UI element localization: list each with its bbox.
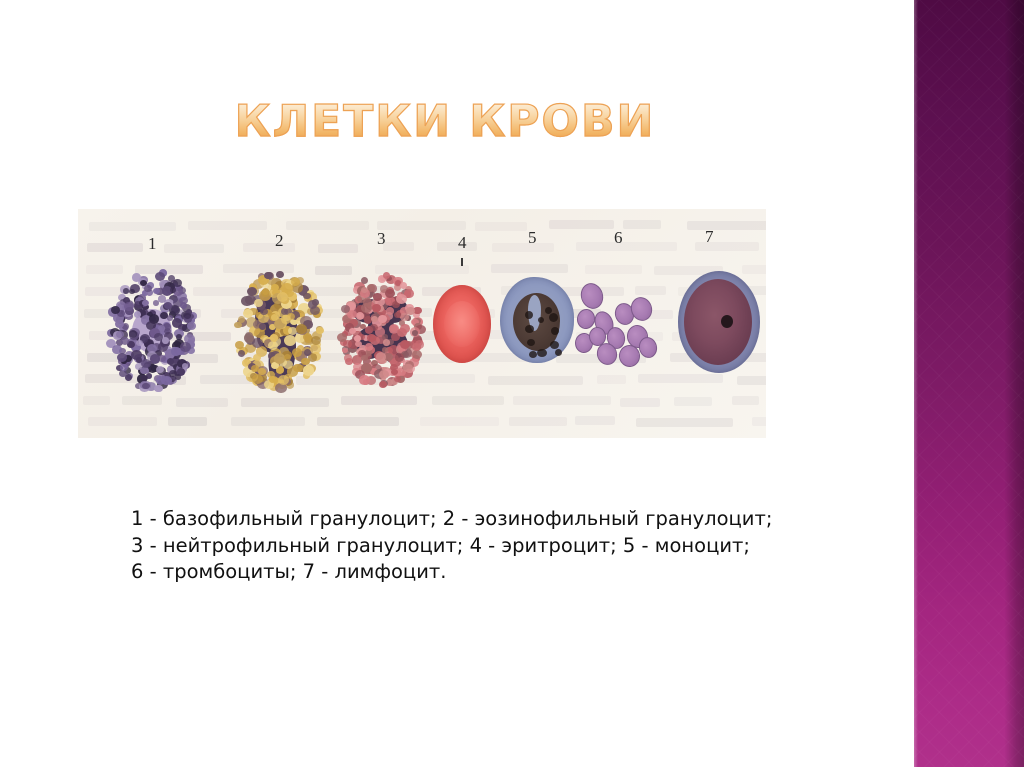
cell-granule	[312, 299, 320, 306]
ghost-text-line	[687, 221, 766, 230]
cell-granule	[268, 341, 278, 350]
cell-granule	[162, 337, 169, 343]
cell-granule	[379, 381, 387, 388]
ghost-text-line	[475, 222, 527, 231]
ghost-text-line	[88, 417, 157, 426]
monocyte-chromatin-dot	[525, 325, 534, 333]
cell-granule	[182, 363, 189, 369]
cell-granule	[254, 299, 263, 307]
ghost-text-line	[638, 374, 724, 383]
cell-granule	[361, 277, 368, 284]
cell-number-label-1: 1	[148, 234, 157, 254]
ghost-text-line	[620, 398, 660, 407]
ghost-text-line	[317, 417, 399, 426]
ghost-text-line	[383, 242, 415, 251]
monocyte-chromatin-dot	[537, 349, 547, 357]
cell-granule	[378, 315, 387, 323]
cell-granule	[412, 350, 422, 359]
cell-granule	[170, 287, 176, 293]
ghost-text-line	[341, 396, 416, 405]
cell-granule	[156, 366, 164, 373]
cell-granule	[154, 385, 163, 393]
cell-granule	[412, 330, 418, 336]
ghost-text-line	[575, 416, 614, 425]
ghost-text-line	[488, 376, 583, 385]
ghost-text-line	[89, 222, 176, 231]
cell-granule	[371, 316, 378, 323]
ghost-text-line	[674, 397, 712, 406]
ghost-text-line	[243, 243, 296, 252]
cell-granule	[367, 334, 376, 342]
cell-granule	[363, 298, 372, 307]
ghost-text-line	[437, 242, 477, 251]
ghost-text-line	[286, 221, 369, 230]
monocyte-chromatin-dot	[529, 351, 537, 358]
monocyte-chromatin-dot	[525, 311, 533, 319]
cell-granule	[310, 344, 320, 354]
cell-granule	[349, 328, 356, 334]
cell-granule	[304, 349, 311, 356]
lymphocyte-nucleus	[684, 279, 752, 365]
cell-granule	[173, 279, 182, 287]
ghost-text-line	[752, 417, 766, 426]
ghost-text-line	[168, 417, 207, 426]
page-title: Клетки крови	[0, 96, 890, 147]
cell-number-label-3: 3	[377, 229, 386, 249]
ghost-text-line	[549, 220, 614, 229]
cell-granule	[117, 353, 127, 362]
cell-granule	[245, 332, 253, 339]
monocyte-chromatin-dot	[545, 307, 552, 314]
cell-granule	[284, 335, 296, 346]
cell-granule	[164, 302, 171, 309]
ghost-text-line	[122, 396, 162, 405]
cell-granule	[274, 353, 285, 363]
cell-granule	[400, 324, 409, 333]
ghost-text-line	[432, 396, 503, 405]
cell-granule	[370, 324, 378, 331]
ghost-text-line	[176, 398, 228, 407]
cell-granule	[386, 307, 394, 315]
cell-granule	[284, 354, 291, 361]
cell-granule	[120, 364, 128, 372]
cell-granule	[400, 282, 408, 289]
cell-granule	[175, 374, 182, 380]
cell-basophil	[106, 267, 198, 395]
cell-granule	[356, 312, 364, 319]
cell-number-label-2: 2	[275, 231, 284, 251]
cell-granule	[171, 347, 180, 356]
cell-monocyte	[500, 277, 574, 363]
pointer-tick-icon	[461, 258, 463, 266]
cell-granule	[316, 327, 324, 334]
ghost-text-line	[513, 396, 611, 405]
ghost-text-line	[636, 418, 733, 427]
ghost-text-line	[492, 243, 555, 252]
ghost-text-line	[509, 417, 567, 426]
cell-granule	[303, 293, 310, 300]
ghost-text-line	[597, 375, 626, 384]
ghost-text-line	[188, 221, 268, 230]
cell-granule	[121, 337, 129, 344]
cell-granule	[342, 348, 348, 354]
cell-number-label-4: 4	[458, 233, 467, 253]
cell-granule	[258, 368, 265, 375]
cell-granule	[129, 330, 137, 337]
cell-granule	[361, 355, 367, 361]
ghost-text-line	[737, 376, 766, 385]
erythrocyte-pale-center	[444, 301, 480, 347]
monocyte-chromatin-dot	[551, 327, 559, 335]
cell-granule	[238, 350, 245, 357]
ghost-text-line	[732, 396, 760, 405]
ghost-text-line	[83, 396, 109, 405]
figure-caption: 1 - базофильный гранулоцит; 2 - эозинофи…	[131, 506, 891, 586]
ghost-text-line	[491, 264, 568, 273]
cell-granule	[150, 354, 161, 364]
cell-granule	[376, 352, 386, 361]
ghost-text-line	[241, 398, 329, 407]
cell-granule	[262, 288, 269, 295]
band-highlight-edge	[914, 0, 918, 767]
cell-granule	[278, 375, 289, 385]
ghost-text-line	[164, 244, 224, 253]
cell-granule	[276, 271, 284, 278]
platelet	[578, 280, 607, 312]
decorative-purple-band	[914, 0, 1024, 767]
cell-number-label-7: 7	[705, 227, 714, 247]
lymphocyte-nucleolus	[721, 315, 733, 328]
cell-granule	[379, 370, 389, 379]
band-texture	[914, 0, 1024, 767]
cell-granule	[129, 289, 135, 295]
cell-granule	[359, 375, 370, 385]
cell-granule	[179, 297, 187, 305]
cell-granule	[259, 323, 266, 330]
ghost-text-line	[231, 417, 306, 426]
ghost-text-line	[377, 221, 466, 230]
ghost-text-line	[576, 242, 677, 251]
cell-granule	[184, 313, 191, 319]
ghost-text-line	[318, 244, 358, 253]
cell-granule	[153, 300, 159, 306]
cell-granule	[396, 294, 407, 304]
ghost-text-line	[585, 265, 641, 274]
cell-granule	[141, 375, 147, 381]
cell-eosinophil	[233, 267, 325, 397]
cell-granule	[161, 376, 172, 386]
cell-granule	[310, 306, 320, 315]
cell-number-label-5: 5	[528, 228, 537, 248]
cell-granule	[187, 322, 196, 330]
cell-number-label-6: 6	[614, 228, 623, 248]
cell-granule	[403, 364, 412, 373]
cell-granule	[373, 293, 381, 301]
cell-granule	[383, 339, 390, 345]
cell-granule	[394, 376, 400, 382]
monocyte-chromatin-dot	[549, 313, 558, 322]
cell-lymphocyte	[678, 271, 760, 373]
ghost-text-line	[420, 417, 499, 426]
cell-granule	[142, 300, 148, 306]
cell-granule	[234, 322, 241, 329]
monocyte-chromatin-dot	[527, 339, 535, 346]
cell-granule	[301, 358, 309, 366]
cell-granule	[180, 342, 191, 352]
monocyte-chromatin-dot	[555, 349, 562, 356]
cell-granule	[395, 353, 404, 361]
cell-granule	[372, 304, 381, 312]
cell-granule	[383, 272, 390, 279]
cell-granule	[270, 334, 279, 342]
cell-granule	[406, 307, 415, 315]
cell-platelets	[575, 281, 670, 367]
cell-granule	[303, 365, 314, 375]
ghost-text-line	[87, 243, 143, 252]
cell-granule	[293, 364, 303, 373]
cell-granule	[241, 296, 253, 307]
ghost-text-line	[623, 220, 660, 229]
blood-cells-figure: 1234567	[78, 209, 766, 438]
cell-granule	[281, 315, 291, 324]
cell-erythrocyte	[433, 285, 491, 363]
monocyte-chromatin-dot	[538, 317, 544, 323]
cell-granule	[243, 309, 253, 318]
cell-granule	[136, 357, 142, 363]
cell-granule	[344, 354, 352, 362]
cell-granule	[167, 358, 174, 365]
cell-neutrophil	[338, 271, 426, 391]
cell-granule	[111, 306, 120, 314]
cell-granule	[124, 302, 134, 311]
monocyte-chromatin-dot	[550, 341, 559, 349]
cell-granule	[142, 383, 150, 390]
cell-granule	[123, 288, 129, 294]
slide-canvas: Клетки крови 1234567 1 - базофильный гра…	[0, 0, 1024, 767]
cell-granule	[267, 371, 275, 378]
